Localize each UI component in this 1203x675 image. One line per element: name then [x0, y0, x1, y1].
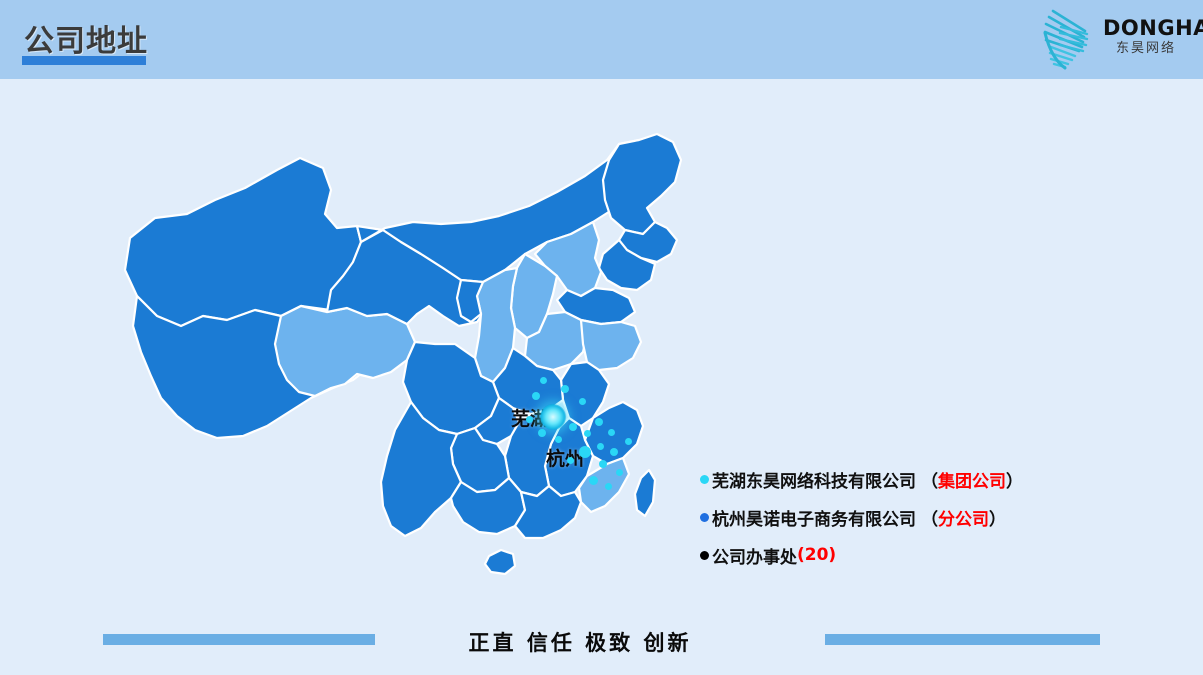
- map-marker-office[interactable]: [538, 429, 546, 437]
- map-marker-office[interactable]: [555, 436, 562, 443]
- legend-item-offices[interactable]: 公司办事处 (20): [700, 536, 1120, 574]
- legend-item-group-company[interactable]: 芜湖东昊网络科技有限公司 （ 集团公司 ）: [700, 460, 1120, 498]
- logo-cn-name: 东昊网络: [1103, 40, 1191, 58]
- map-city-label-hangzhou: 杭州: [546, 444, 584, 471]
- legend-bullet-cyan-icon: [700, 475, 709, 484]
- legend-item-tag: 分公司: [938, 505, 989, 530]
- legend-bullet-blue-icon: [700, 513, 709, 522]
- legend-close-paren: ）: [1006, 467, 1023, 492]
- map-marker-office[interactable]: [540, 377, 547, 384]
- province-hainan: [485, 550, 515, 574]
- map-marker-office[interactable]: [532, 392, 540, 400]
- legend-close-paren: ）: [989, 505, 1006, 530]
- map-marker-office[interactable]: [625, 438, 632, 445]
- province-xinjiang: [125, 158, 363, 326]
- map-marker-office[interactable]: [561, 385, 569, 393]
- map-marker-primary[interactable]: [540, 404, 566, 430]
- map-marker-office[interactable]: [589, 476, 598, 485]
- logo-text: DONGHAO 东昊网络: [1103, 17, 1191, 58]
- legend-item-tag: 集团公司: [938, 467, 1006, 492]
- legend-open-paren: （: [921, 467, 938, 492]
- province-heilongjiang: [603, 134, 681, 234]
- map-marker-office[interactable]: [579, 398, 586, 405]
- map-marker-office[interactable]: [567, 457, 574, 464]
- map-marker-office[interactable]: [526, 416, 533, 423]
- china-map-svg: [95, 130, 695, 620]
- page-title: 公司地址: [24, 16, 148, 60]
- legend-item-tag: (20): [797, 545, 836, 565]
- legend-item-label: 芜湖东昊网络科技有限公司: [712, 467, 916, 492]
- china-map[interactable]: 芜湖 杭州: [95, 130, 695, 620]
- map-marker-office[interactable]: [597, 443, 604, 450]
- map-marker-office[interactable]: [616, 469, 623, 476]
- legend-bullet-black-icon: [700, 551, 709, 560]
- donghao-wing-logo-icon: [1035, 7, 1101, 71]
- legend: 芜湖东昊网络科技有限公司 （ 集团公司 ） 杭州昊诺电子商务有限公司 （ 分公司…: [700, 460, 1120, 574]
- legend-item-label: 公司办事处: [712, 543, 797, 568]
- footer-rule-right: [825, 634, 1100, 645]
- map-marker-office[interactable]: [599, 460, 607, 468]
- province-ningxia: [457, 280, 483, 322]
- legend-item-branch-company[interactable]: 杭州昊诺电子商务有限公司 （ 分公司 ）: [700, 498, 1120, 536]
- footer-rule-left: [103, 634, 375, 645]
- map-marker-office[interactable]: [608, 429, 615, 436]
- legend-item-label: 杭州昊诺电子商务有限公司: [712, 505, 916, 530]
- logo-en-name: DONGHAO: [1103, 17, 1191, 40]
- map-marker-office[interactable]: [579, 446, 591, 458]
- map-marker-office[interactable]: [584, 430, 591, 437]
- slide-header: 公司地址: [0, 0, 1203, 79]
- province-taiwan: [635, 470, 655, 516]
- company-logo: DONGHAO 东昊网络: [1031, 5, 1191, 73]
- province-qinghai: [275, 306, 415, 396]
- title-underline: [22, 56, 146, 65]
- map-marker-office[interactable]: [569, 423, 577, 431]
- province-guangdong: [515, 486, 581, 538]
- map-marker-office[interactable]: [605, 483, 612, 490]
- province-jiangsu: [581, 320, 641, 370]
- legend-open-paren: （: [921, 505, 938, 530]
- map-marker-office[interactable]: [610, 448, 618, 456]
- footer-slogan: 正直 信任 极致 创新: [455, 627, 705, 657]
- map-marker-office[interactable]: [595, 418, 603, 426]
